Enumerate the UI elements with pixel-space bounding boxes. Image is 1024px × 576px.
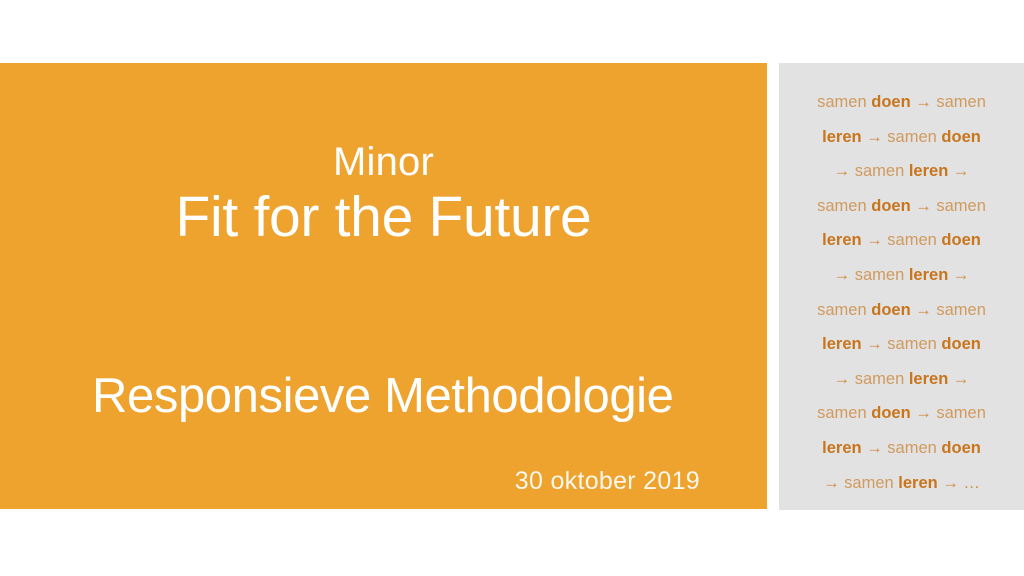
- mantra-word: samen: [817, 301, 867, 319]
- mantra-word-emphasis: leren: [822, 128, 861, 146]
- arrow-right-icon: →: [866, 128, 883, 146]
- mantra-word: samen: [887, 439, 937, 457]
- mantra-word-emphasis: leren: [909, 370, 948, 388]
- mantra-line: leren → samen doen: [779, 327, 1024, 362]
- mantra-word-emphasis: doen: [941, 335, 980, 353]
- mantra-word-emphasis: doen: [941, 439, 980, 457]
- mantra-line: samen doen → samen: [779, 189, 1024, 224]
- mantra-word-emphasis: leren: [822, 439, 861, 457]
- mantra-word: samen: [936, 301, 986, 319]
- arrow-right-icon: →: [915, 404, 932, 422]
- title-panel: Minor Fit for the Future Responsieve Met…: [0, 63, 767, 509]
- mantra-word-emphasis: doen: [871, 93, 910, 111]
- subtitle-block: Responsieve Methodologie: [92, 368, 732, 424]
- arrow-right-icon: →: [866, 335, 883, 353]
- mantra-word: samen: [844, 474, 894, 492]
- arrow-right-icon: →: [823, 474, 840, 492]
- page-title-line-2: Fit for the Future: [0, 185, 767, 249]
- arrow-right-icon: →: [915, 301, 932, 319]
- mantra-word-emphasis: doen: [871, 197, 910, 215]
- arrow-right-icon: →: [953, 162, 970, 180]
- arrow-right-icon: →: [915, 197, 932, 215]
- mantra-line: samen doen → samen: [779, 85, 1024, 120]
- arrow-right-icon: →: [915, 93, 932, 111]
- mantra-word-emphasis: doen: [871, 404, 910, 422]
- mantra-word-emphasis: leren: [898, 474, 937, 492]
- presentation-date: 30 oktober 2019: [0, 465, 700, 497]
- page-title-line-1: Minor: [0, 139, 767, 185]
- arrow-right-icon: →: [953, 266, 970, 284]
- mantra-word: samen: [936, 197, 986, 215]
- side-panel: samen doen → samenleren → samen doen→ sa…: [779, 63, 1024, 510]
- mantra-word-emphasis: doen: [871, 301, 910, 319]
- ellipsis-icon: …: [963, 474, 980, 492]
- mantra-word: samen: [817, 197, 867, 215]
- mantra-line: leren → samen doen: [779, 431, 1024, 466]
- mantra-word: samen: [855, 266, 905, 284]
- slide-canvas: Minor Fit for the Future Responsieve Met…: [0, 0, 1024, 576]
- arrow-right-icon: →: [866, 439, 883, 457]
- mantra-word: samen: [855, 162, 905, 180]
- mantra-line: → samen leren → …: [779, 466, 1024, 501]
- mantra-word-emphasis: doen: [941, 128, 980, 146]
- mantra-word-emphasis: leren: [822, 231, 861, 249]
- page-subtitle: Responsieve Methodologie: [92, 368, 732, 424]
- mantra-line: samen doen → samen: [779, 396, 1024, 431]
- mantra-word: samen: [855, 370, 905, 388]
- title-block: Minor Fit for the Future: [0, 139, 767, 249]
- mantra-list: samen doen → samenleren → samen doen→ sa…: [779, 85, 1024, 500]
- mantra-word: samen: [936, 404, 986, 422]
- mantra-word-emphasis: leren: [909, 266, 948, 284]
- arrow-right-icon: →: [866, 231, 883, 249]
- mantra-line: leren → samen doen: [779, 120, 1024, 155]
- mantra-line: → samen leren →: [779, 154, 1024, 189]
- date-block: 30 oktober 2019: [0, 465, 700, 497]
- mantra-word: samen: [887, 335, 937, 353]
- mantra-word: samen: [887, 231, 937, 249]
- mantra-line: → samen leren →: [779, 258, 1024, 293]
- arrow-right-icon: →: [834, 266, 851, 284]
- mantra-word: samen: [817, 93, 867, 111]
- arrow-right-icon: →: [834, 162, 851, 180]
- mantra-word: samen: [887, 128, 937, 146]
- mantra-word: samen: [817, 404, 867, 422]
- mantra-line: leren → samen doen: [779, 223, 1024, 258]
- arrow-right-icon: →: [942, 474, 959, 492]
- arrow-right-icon: →: [834, 370, 851, 388]
- mantra-word-emphasis: leren: [822, 335, 861, 353]
- mantra-word-emphasis: doen: [941, 231, 980, 249]
- mantra-line: → samen leren →: [779, 362, 1024, 397]
- arrow-right-icon: →: [953, 370, 970, 388]
- mantra-word: samen: [936, 93, 986, 111]
- mantra-word-emphasis: leren: [909, 162, 948, 180]
- mantra-line: samen doen → samen: [779, 293, 1024, 328]
